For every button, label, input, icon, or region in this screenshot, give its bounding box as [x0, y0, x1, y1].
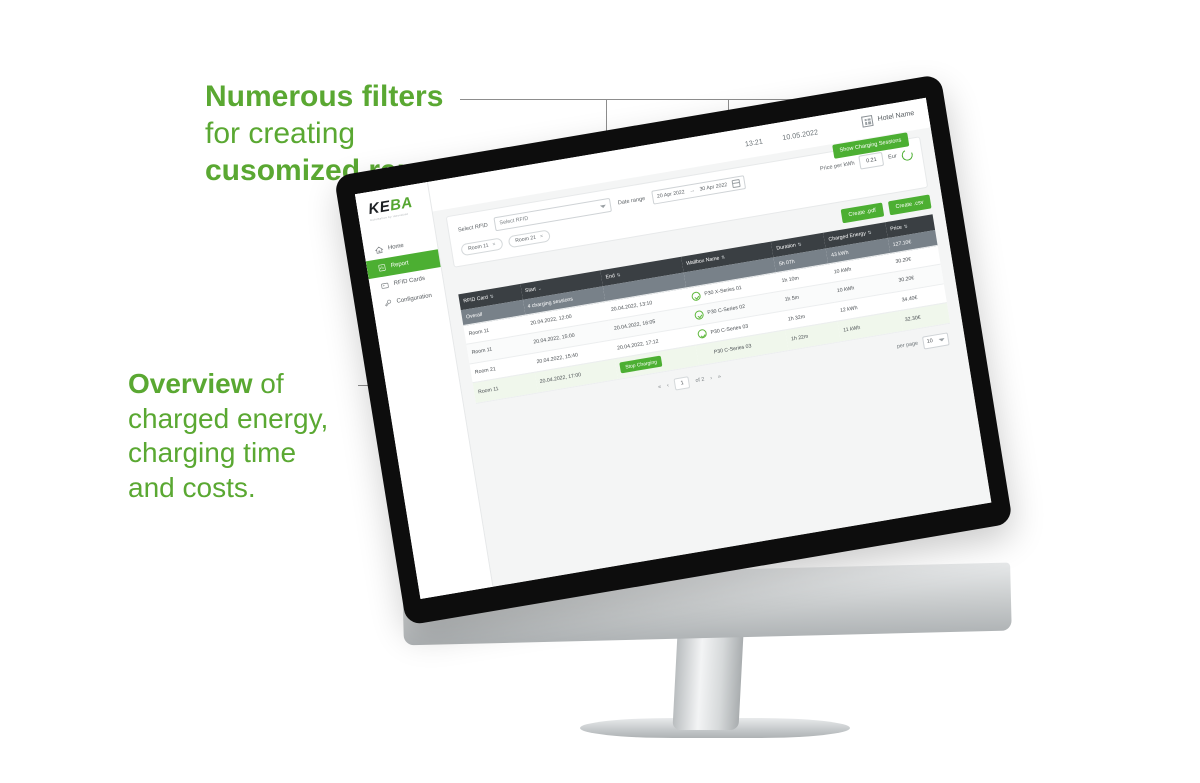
date-separator: →: [689, 188, 695, 195]
sidebar-item-configuration-label: Configuration: [396, 293, 432, 305]
plug-check-icon: [697, 329, 707, 339]
sidebar-item-rfid-cards-label: RFID Cards: [393, 276, 425, 287]
rfid-card-icon: [380, 281, 389, 290]
main-content: Select RFID Select RFID Date range 20 Ap…: [433, 127, 992, 586]
imac-monitor: 13:21 10.05.2022 Hotel Name KEBA Automat…: [395, 120, 1035, 740]
col-charged-energy-label: Charged Energy: [828, 231, 866, 243]
col-rfid-card-label: RFID Card: [463, 295, 488, 305]
keba-logo: KEBA Automation by innovation: [367, 191, 431, 222]
sort-icon: ⌄: [538, 286, 542, 291]
pagination: « ‹ 1 of 2 › »: [657, 371, 722, 393]
stop-charging-button[interactable]: Stop Charging: [620, 356, 663, 374]
callout-overview: Overview of charged energy, charging tim…: [128, 367, 328, 506]
per-page-label: per page: [897, 341, 919, 350]
topbar-time: 13:21: [744, 137, 763, 149]
monitor-neck: [672, 632, 743, 730]
per-page-value: 10: [926, 338, 933, 345]
rfid-filter-label: Select RFID: [458, 223, 489, 234]
callout-overview-line4: and costs.: [128, 471, 328, 506]
callout-overview-line2: charged energy,: [128, 402, 328, 437]
sort-icon: ⇅: [797, 243, 801, 248]
topbar-hotel[interactable]: Hotel Name: [861, 108, 915, 128]
promo-screenshot: Numerous filters for creating cusomized …: [0, 0, 1200, 783]
callout-overview-bold: Overview: [128, 368, 253, 399]
cell-wallbox-label: P30 C-Series 02: [707, 304, 745, 316]
col-end-label: End: [605, 273, 615, 280]
wrench-icon: [383, 299, 392, 308]
sidebar-item-home-label: Home: [388, 243, 405, 252]
pagination-next[interactable]: ›: [710, 376, 713, 382]
sidebar-item-report-label: Report: [390, 260, 409, 269]
cell-wallbox-label: P30 X-Series 01: [704, 285, 742, 297]
close-icon[interactable]: ×: [540, 234, 544, 240]
pagination-prev[interactable]: ‹: [667, 383, 670, 389]
sort-icon: ⇅: [721, 255, 725, 260]
col-start-label: Start: [525, 286, 537, 294]
sidebar-nav: Home Report RFID Cards: [363, 231, 446, 314]
chip-room-21[interactable]: Room 21 ×: [507, 229, 551, 248]
sort-icon: ⇅: [868, 231, 872, 236]
create-csv-button[interactable]: Create .csv: [888, 194, 932, 215]
currency-label: Eur: [888, 153, 898, 160]
sort-icon: ⇅: [490, 295, 494, 300]
calendar-icon[interactable]: [732, 179, 741, 188]
chevron-down-icon: [939, 338, 945, 342]
topbar-hotel-label: Hotel Name: [877, 110, 915, 123]
chevron-down-icon: [600, 204, 606, 208]
keba-dashboard: 13:21 10.05.2022 Hotel Name KEBA Automat…: [355, 98, 991, 599]
chip-room-11-label: Room 11: [468, 243, 489, 252]
callout-filters-line1: Numerous filters: [205, 78, 480, 115]
col-price-label: Price: [890, 225, 903, 233]
pagination-last[interactable]: »: [718, 374, 722, 380]
chip-room-21-label: Room 21: [515, 235, 537, 244]
price-input[interactable]: 0.21: [859, 152, 885, 170]
rfid-select-value: Select RFID: [499, 216, 529, 227]
screen: 13:21 10.05.2022 Hotel Name KEBA Automat…: [355, 98, 991, 599]
callout-overview-line1: Overview of: [128, 367, 328, 402]
cell-wallbox-label: P30 C-Series 03: [713, 343, 751, 355]
close-icon[interactable]: ×: [492, 242, 496, 248]
create-pdf-button[interactable]: Create .pdf: [841, 203, 884, 224]
cell-wallbox-label: P30 C-Series 03: [710, 323, 748, 335]
building-icon: [861, 115, 874, 128]
topbar-date: 10.05.2022: [782, 127, 819, 142]
date-from: 20 Apr 2022: [657, 189, 686, 200]
date-to: 30 Apr 2022: [699, 182, 728, 193]
pagination-page-input[interactable]: 1: [674, 377, 691, 391]
callout-overview-of: of: [253, 368, 284, 399]
date-range-label: Date range: [617, 196, 645, 207]
sort-icon: ⇅: [617, 273, 621, 278]
col-wallbox-name-label: Wallbox Name: [686, 255, 720, 267]
per-page-select[interactable]: 10: [922, 332, 950, 349]
callout-overview-line3: charging time: [128, 436, 328, 471]
pagination-first[interactable]: «: [658, 384, 662, 390]
chip-room-11[interactable]: Room 11 ×: [460, 237, 503, 256]
per-page-control: per page 10: [896, 332, 950, 354]
refresh-icon[interactable]: [900, 148, 914, 162]
plug-check-icon: [691, 291, 701, 301]
sort-icon: ⇅: [904, 225, 908, 230]
monitor-bezel: 13:21 10.05.2022 Hotel Name KEBA Automat…: [334, 74, 1013, 626]
report-icon: [377, 263, 386, 272]
home-icon: [375, 245, 384, 254]
plug-check-icon: [694, 310, 704, 320]
price-label: Price per kWh: [820, 161, 856, 173]
pagination-total: of 2: [695, 377, 705, 384]
col-duration-label: Duration: [776, 242, 796, 251]
